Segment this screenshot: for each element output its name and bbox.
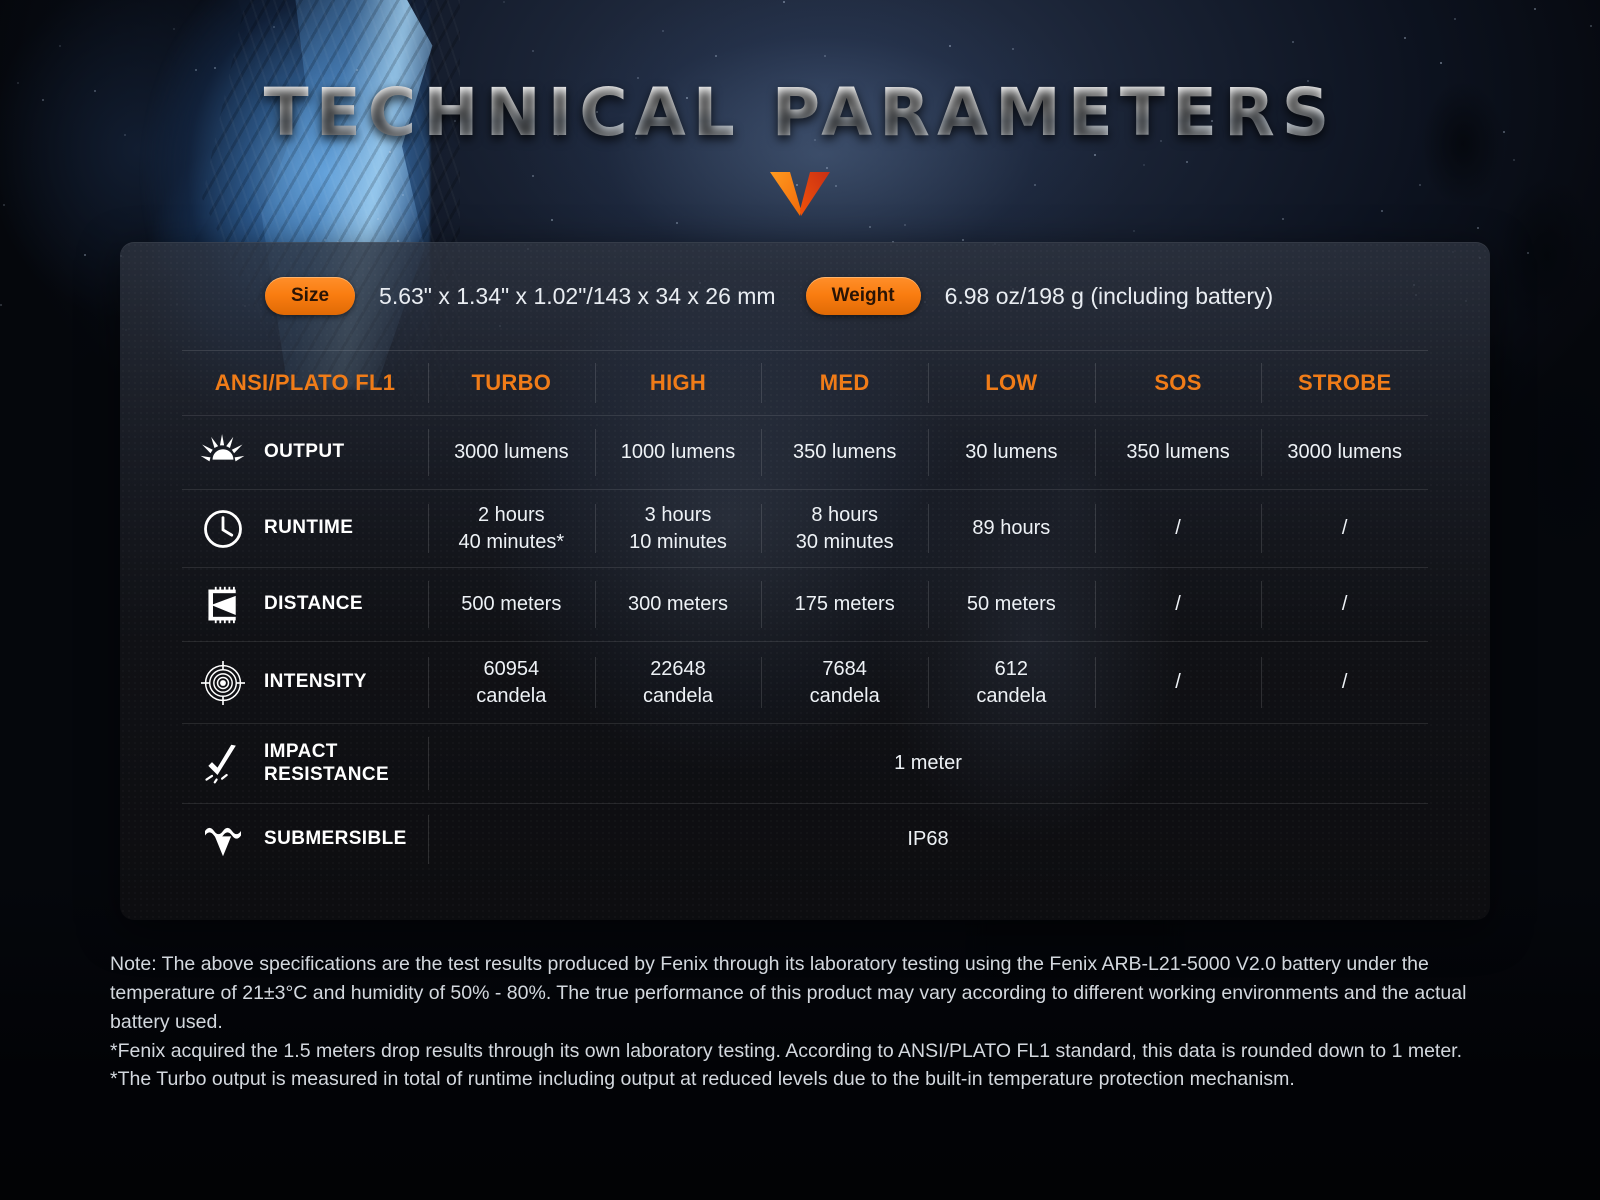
cell-value: 1 meter — [894, 750, 962, 777]
cell-med: 7684candela — [761, 642, 928, 723]
cell-value: 3000 lumens — [454, 439, 569, 466]
row-label: IMPACTRESISTANCE — [264, 741, 389, 787]
column-label: MED — [820, 370, 870, 396]
cell-value: 30 lumens — [965, 439, 1057, 466]
table-header-row: ANSI/PLATO FL1 TURBO HIGH MED LOW SOS ST… — [182, 350, 1428, 415]
cell-value: 89 hours — [972, 515, 1050, 542]
cell-value: / — [1175, 515, 1181, 542]
weight-badge: Weight — [806, 277, 921, 315]
page-title: TECHNICAL PARAMETERS — [0, 80, 1600, 146]
cell-sos: / — [1095, 642, 1262, 723]
cell-turbo: 3000 lumens — [428, 416, 595, 489]
row-label: DISTANCE — [264, 593, 363, 616]
cell-high: 1000 lumens — [595, 416, 762, 489]
table-row: INTENSITY 60954candela 22648candela 7684… — [182, 641, 1428, 723]
cell-turbo: 60954candela — [428, 642, 595, 723]
cell-value: IP68 — [907, 826, 948, 853]
weight-value: 6.98 oz/198 g (including battery) — [945, 283, 1274, 310]
cell-value: / — [1175, 591, 1181, 618]
table-row: DISTANCE 500 meters 300 meters 175 meter… — [182, 567, 1428, 641]
size-badge: Size — [265, 277, 355, 315]
row-label: INTENSITY — [264, 671, 367, 694]
cell-high: 300 meters — [595, 568, 762, 641]
row-header-submersible: SUBMERSIBLE — [182, 804, 428, 875]
target-icon — [196, 661, 250, 705]
cell-high: 3 hours10 minutes — [595, 490, 762, 567]
header-cell-turbo: TURBO — [428, 351, 595, 415]
row-label-text: IMPACTRESISTANCE — [264, 741, 389, 785]
cell-med: 8 hours30 minutes — [761, 490, 928, 567]
cell-turbo: 2 hours40 minutes* — [428, 490, 595, 567]
cell-value: / — [1342, 591, 1348, 618]
row-label: RUNTIME — [264, 517, 353, 540]
header-cell-low: LOW — [928, 351, 1095, 415]
cell-low: 50 meters — [928, 568, 1095, 641]
specs-panel: Size 5.63" x 1.34" x 1.02"/143 x 34 x 26… — [120, 242, 1490, 920]
row-header-impact-resistance: IMPACTRESISTANCE — [182, 724, 428, 803]
water-drop-icon — [196, 822, 250, 858]
row-label: SUBMERSIBLE — [264, 828, 407, 851]
cell-low: 612candela — [928, 642, 1095, 723]
spec-table: ANSI/PLATO FL1 TURBO HIGH MED LOW SOS ST… — [182, 350, 1428, 875]
note-line-1: Note: The above specifications are the t… — [110, 950, 1490, 1037]
notes-block: Note: The above specifications are the t… — [110, 950, 1490, 1094]
row-label: OUTPUT — [264, 441, 345, 464]
row-header-distance: DISTANCE — [182, 568, 428, 641]
row-header-runtime: RUNTIME — [182, 490, 428, 567]
table-row: RUNTIME 2 hours40 minutes* 3 hours10 min… — [182, 489, 1428, 567]
cell-value: 60954candela — [476, 656, 546, 710]
size-value: 5.63" x 1.34" x 1.02"/143 x 34 x 26 mm — [379, 283, 776, 310]
size-weight-row: Size 5.63" x 1.34" x 1.02"/143 x 34 x 26… — [120, 242, 1490, 350]
cell-sos: 350 lumens — [1095, 416, 1262, 489]
row-header-intensity: INTENSITY — [182, 642, 428, 723]
cell-value: 300 meters — [628, 591, 728, 618]
impact-arrow-icon — [196, 742, 250, 786]
beam-ruler-icon — [196, 585, 250, 625]
cell-turbo: 500 meters — [428, 568, 595, 641]
cell-value: 3 hours10 minutes — [629, 502, 727, 556]
cell-value: 50 meters — [967, 591, 1056, 618]
cell-value: 22648candela — [643, 656, 713, 710]
cell-value: 175 meters — [795, 591, 895, 618]
table-row: OUTPUT 3000 lumens 1000 lumens 350 lumen… — [182, 415, 1428, 489]
cell-strobe: / — [1261, 642, 1428, 723]
note-line-3: *The Turbo output is measured in total o… — [110, 1065, 1490, 1094]
cell-value: 1000 lumens — [621, 439, 736, 466]
cell-value: 8 hours30 minutes — [796, 502, 894, 556]
column-label: SOS — [1154, 370, 1201, 396]
cell-value: 7684candela — [810, 656, 880, 710]
column-label: STROBE — [1298, 370, 1391, 396]
note-line-2: *Fenix acquired the 1.5 meters drop resu… — [110, 1037, 1490, 1066]
cell-value: 350 lumens — [793, 439, 896, 466]
cell-sos: / — [1095, 568, 1262, 641]
cell-strobe: / — [1261, 568, 1428, 641]
cell-submersible-value: IP68 — [428, 804, 1428, 875]
cell-value: 350 lumens — [1126, 439, 1229, 466]
column-label: TURBO — [471, 370, 551, 396]
header-cell-strobe: STROBE — [1261, 351, 1428, 415]
cell-sos: / — [1095, 490, 1262, 567]
cell-med: 350 lumens — [761, 416, 928, 489]
cell-value: 612candela — [976, 656, 1046, 710]
header-cell-high: HIGH — [595, 351, 762, 415]
cell-value: 2 hours40 minutes* — [459, 502, 565, 556]
corner-label: ANSI/PLATO FL1 — [196, 370, 428, 396]
chevron-down-icon — [768, 170, 832, 216]
table-row: IMPACTRESISTANCE 1 meter — [182, 723, 1428, 803]
cell-high: 22648candela — [595, 642, 762, 723]
column-label: HIGH — [650, 370, 706, 396]
table-row: SUBMERSIBLE IP68 — [182, 803, 1428, 875]
title-block: TECHNICAL PARAMETERS — [0, 80, 1600, 221]
cell-value: / — [1342, 669, 1348, 696]
cell-value: 500 meters — [461, 591, 561, 618]
cell-strobe: 3000 lumens — [1261, 416, 1428, 489]
cell-low: 30 lumens — [928, 416, 1095, 489]
cell-med: 175 meters — [761, 568, 928, 641]
sunburst-icon — [196, 434, 250, 472]
cell-strobe: / — [1261, 490, 1428, 567]
row-header-output: OUTPUT — [182, 416, 428, 489]
cell-value: / — [1175, 669, 1181, 696]
header-cell-med: MED — [761, 351, 928, 415]
cell-low: 89 hours — [928, 490, 1095, 567]
cell-impact-value: 1 meter — [428, 724, 1428, 803]
cell-value: 3000 lumens — [1287, 439, 1402, 466]
header-cell-ansi: ANSI/PLATO FL1 — [182, 351, 428, 415]
column-label: LOW — [985, 370, 1037, 396]
header-cell-sos: SOS — [1095, 351, 1262, 415]
cell-value: / — [1342, 515, 1348, 542]
clock-icon — [196, 508, 250, 550]
